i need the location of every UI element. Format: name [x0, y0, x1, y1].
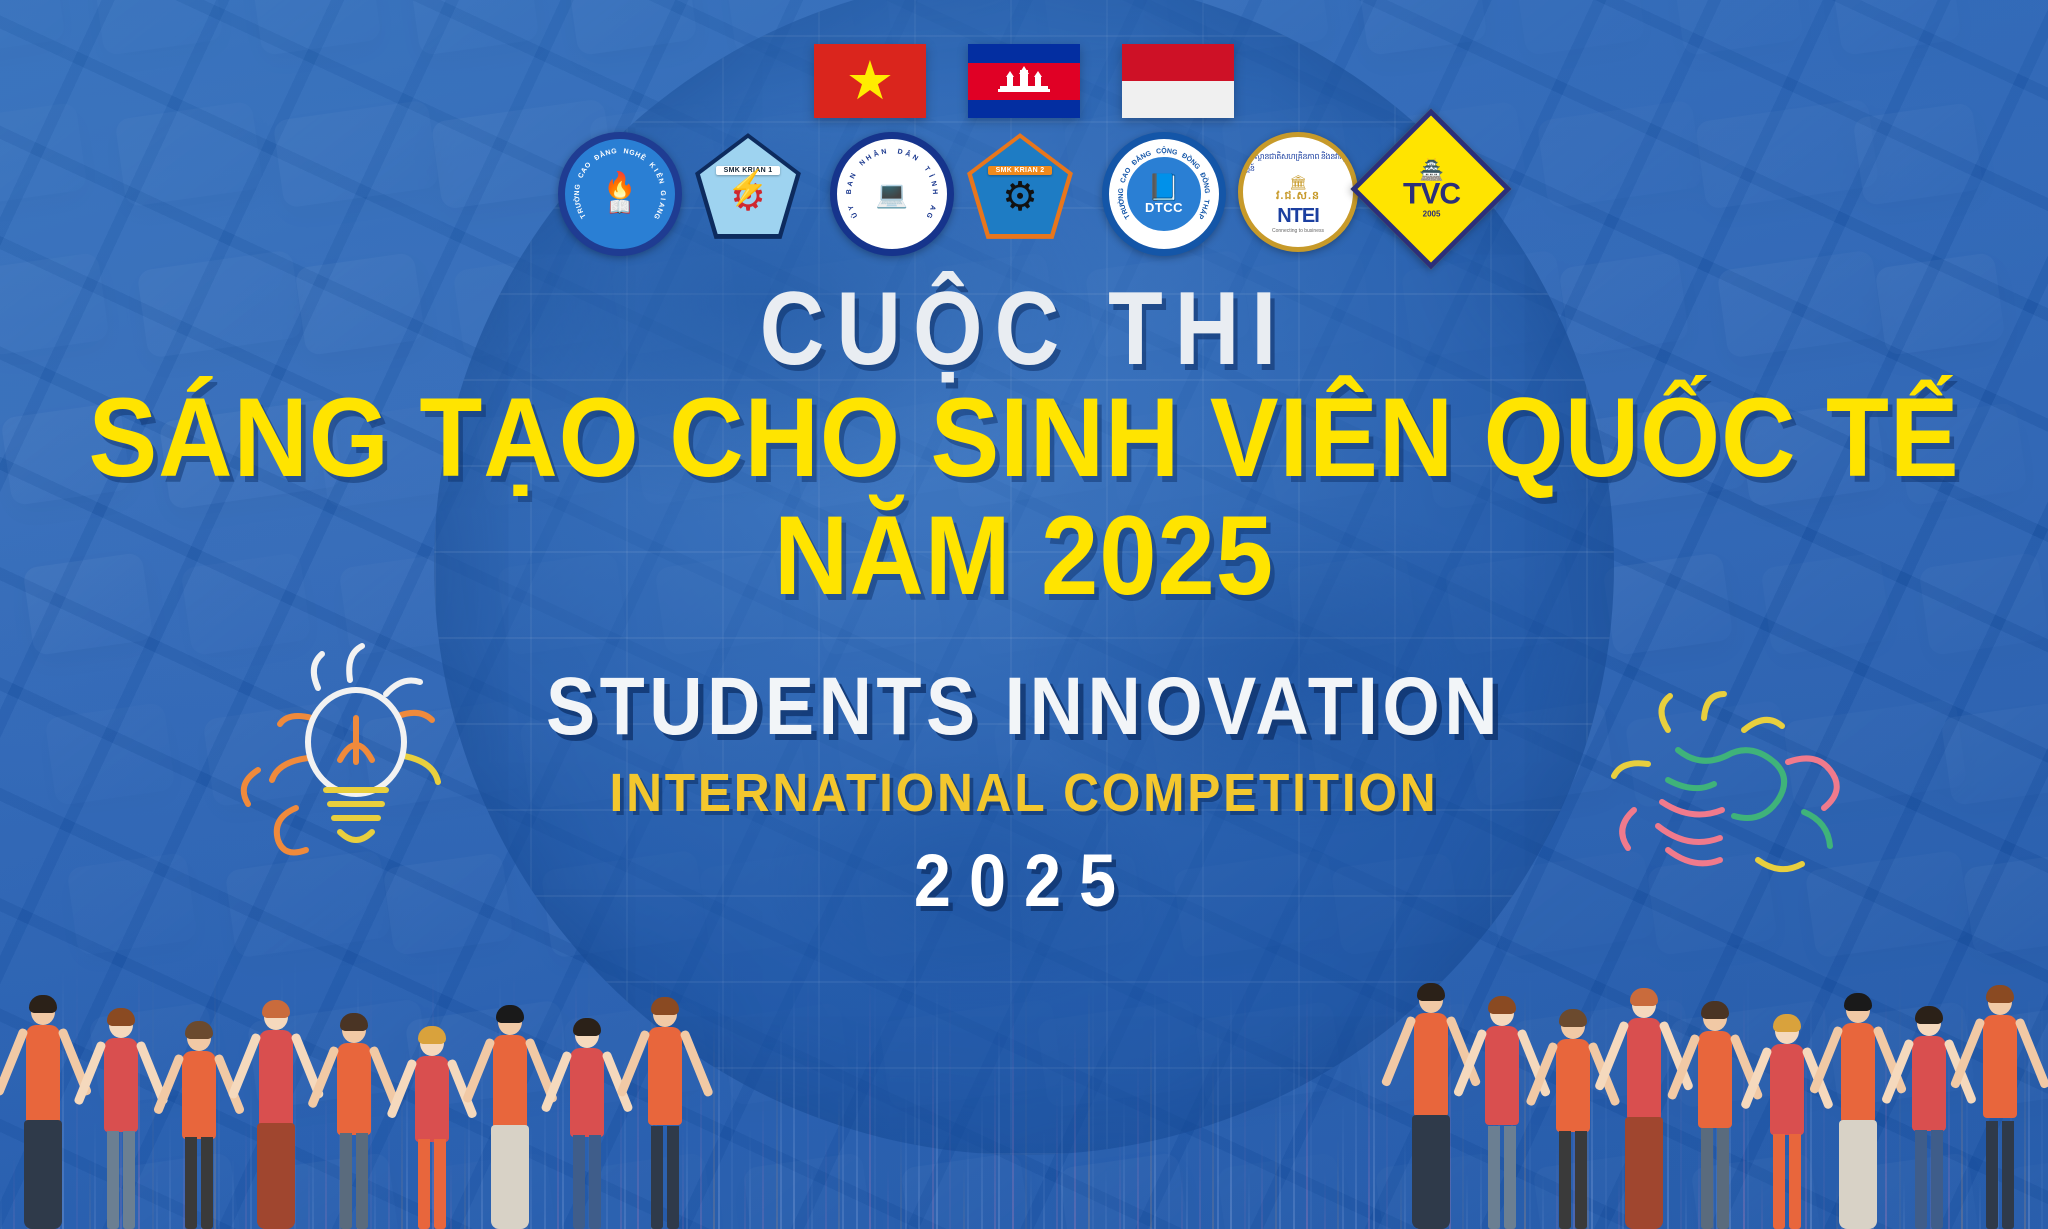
person-skirt: [1412, 1115, 1450, 1229]
person-leg: [185, 1137, 197, 1229]
flag-band-red: [1122, 44, 1234, 81]
title-english-line1: STUDENTS INNOVATION: [102, 666, 1945, 748]
person-figure: [1402, 981, 1460, 1229]
title-english-line2: INTERNATIONAL COMPETITION: [82, 766, 1966, 820]
person-hair: [1915, 1006, 1943, 1024]
person-hair: [185, 1021, 213, 1039]
person-leg: [1488, 1126, 1500, 1229]
logo-abbreviation: NTEI: [1277, 205, 1319, 228]
person-leg: [667, 1126, 679, 1229]
indonesia-flag: [1122, 44, 1234, 118]
cambodia-flag: [968, 44, 1080, 118]
flag-band-middle: [968, 63, 1080, 100]
logo-ribbon-label: SMK KRIAN 2: [988, 166, 1053, 175]
person-leg: [1773, 1134, 1785, 1229]
person-torso: [1556, 1039, 1590, 1132]
person-figure: [1829, 991, 1887, 1229]
person-figure: [1686, 999, 1744, 1229]
person-torso: [1698, 1031, 1732, 1128]
logo-abbreviation: TVC: [1403, 180, 1460, 209]
person-figure: [1544, 1007, 1602, 1229]
person-leg: [201, 1137, 213, 1229]
flag-band-top: [968, 44, 1080, 63]
person-figure: [1900, 1004, 1958, 1229]
person-torso: [259, 1030, 293, 1127]
person-figure: [481, 1003, 539, 1229]
person-hair: [29, 995, 57, 1013]
person-arm: [616, 1029, 651, 1097]
title-vietnamese-line1: SÁNG TẠO CHO SINH VIÊN QUỐC TẾ: [82, 382, 1966, 494]
person-hair: [107, 1008, 135, 1026]
person-torso: [493, 1035, 527, 1130]
logo-emblem: 📘 DTCC: [1125, 155, 1203, 233]
person-skirt: [491, 1125, 529, 1229]
person-torso: [1770, 1044, 1804, 1135]
person-torso: [570, 1048, 604, 1137]
logo-abbreviation: DTCC: [1145, 200, 1183, 215]
partner-logos: TRƯỜNG CAO ĐẲNG NGHỀ KIÊN GIANG 🔥 📖 TRƯỜ…: [0, 132, 2048, 248]
book-icon: 📖: [604, 198, 636, 216]
person-hair: [1844, 993, 1872, 1011]
competition-poster: ★: [0, 0, 2048, 1229]
person-hair: [651, 997, 679, 1015]
person-figure: [1615, 986, 1673, 1229]
person-leg: [107, 1131, 119, 1229]
book-icon: 📘: [1148, 174, 1180, 200]
person-leg: [589, 1135, 601, 1229]
person-skirt: [1625, 1117, 1663, 1229]
person-leg: [1931, 1130, 1943, 1229]
logo-ntei-cambodia: វិទ្យាស្ថានជាតិសហគ្រិនភាព និងនវានុវត្តន៍…: [1238, 132, 1354, 248]
person-leg: [356, 1133, 368, 1229]
logo-tra-vinh-college: 🏯 TVC 2005 TRƯỜNG CAO ĐẲNG TRÀ VINH · TR…: [1374, 132, 1490, 248]
logo-smk-krian-1: SMK KRIAN 1 ⚙ ⚡: [694, 132, 810, 248]
person-skirt: [1839, 1120, 1877, 1229]
person-torso: [648, 1027, 682, 1125]
person-hair: [1630, 988, 1658, 1006]
person-hair: [1417, 983, 1445, 1001]
person-torso: [26, 1025, 60, 1124]
person-figure: [1758, 1012, 1816, 1229]
person-hair: [573, 1018, 601, 1036]
person-hair: [496, 1005, 524, 1023]
person-leg: [1504, 1126, 1516, 1229]
star-icon: ★: [846, 54, 894, 108]
person-arm: [462, 1037, 496, 1103]
person-figure: [636, 995, 694, 1229]
logo-an-giang-vocational-college: ỦY BAN NHÂN DÂN TỈNH AG 💻 ỦY BAN NHÂN DÂ…: [830, 132, 946, 248]
person-leg: [123, 1131, 135, 1229]
person-torso: [1912, 1036, 1946, 1131]
logo-khmer-title: វិទ្យាស្ថានជាតិសហគ្រិនភាព និងនវានុវត្តន៍: [1243, 151, 1353, 175]
person-arm: [228, 1032, 262, 1100]
logo-emblem: 💻: [876, 181, 908, 207]
logo-khmer-abbr: វ.ជ.ស.ន: [1276, 189, 1320, 205]
person-torso: [1485, 1026, 1519, 1125]
person-torso: [1414, 1013, 1448, 1117]
person-leg: [1986, 1121, 1998, 1229]
torch-icon: 🔥: [604, 172, 636, 198]
country-flags: ★: [0, 44, 2048, 118]
person-leg: [651, 1126, 663, 1229]
person-torso: [182, 1051, 216, 1139]
person-hair: [1701, 1001, 1729, 1019]
person-leg: [573, 1135, 585, 1229]
title-vietnamese: SÁNG TẠO CHO SINH VIÊN QUỐC TẾ NĂM 2025: [0, 382, 2048, 612]
gear-icon: ⚙: [1002, 177, 1038, 217]
logo-ring-text: TRƯỜNG CAO ĐẲNG TRÀ VINH · TRA VINH COLL…: [1374, 246, 1375, 247]
title-kicker: CUỘC THI: [143, 276, 1904, 382]
poster-titles: CUỘC THI SÁNG TẠO CHO SINH VIÊN QUỐC TẾ …: [0, 276, 2048, 918]
person-hair: [418, 1026, 446, 1044]
person-torso: [104, 1038, 138, 1132]
person-arm: [680, 1029, 715, 1097]
person-torso: [1627, 1018, 1661, 1120]
person-figure: [14, 993, 72, 1229]
person-skirt: [257, 1123, 295, 1229]
laptop-icon: 💻: [876, 181, 908, 207]
person-figure: [325, 1011, 383, 1229]
person-leg: [340, 1133, 352, 1229]
logo-emblem: 🔥 📖: [604, 172, 636, 216]
person-figure: [247, 998, 305, 1229]
logo-sub-text: Connecting to business: [1272, 228, 1324, 234]
title-english-year: 2025: [102, 844, 1945, 918]
person-leg: [418, 1139, 430, 1229]
person-leg: [1789, 1134, 1801, 1229]
person-figure: [403, 1024, 461, 1229]
person-figure: [170, 1019, 228, 1229]
logo-smk-krian-2: SMK KRIAN 2 ⚙: [966, 132, 1082, 248]
logo-dong-thap-community-college: TRƯỜNG CAO ĐẲNG CỘNG ĐỒNG ĐỒNG THÁP 📘 DT…: [1102, 132, 1218, 248]
person-torso: [337, 1043, 371, 1135]
person-skirt: [24, 1120, 62, 1229]
person-hair: [1773, 1014, 1801, 1032]
people-holding-hands-right: [1398, 969, 2038, 1229]
person-hair: [1986, 985, 2014, 1003]
person-figure: [1971, 983, 2029, 1229]
flag-band-white: [1122, 81, 1234, 118]
person-leg: [1559, 1131, 1571, 1229]
person-torso: [1841, 1023, 1875, 1123]
vietnam-flag: ★: [814, 44, 926, 118]
person-figure: [92, 1006, 150, 1229]
person-leg: [1575, 1131, 1587, 1229]
people-holding-hands-left: [10, 979, 710, 1229]
person-hair: [1488, 996, 1516, 1014]
logo-kien-giang-vocational-college: TRƯỜNG CAO ĐẲNG NGHỀ KIÊN GIANG 🔥 📖 TRƯỜ…: [558, 132, 674, 248]
temple-icon: 🏛: [1289, 175, 1307, 189]
person-hair: [340, 1013, 368, 1031]
lightning-bolt-icon: ⚡: [727, 168, 769, 208]
title-vietnamese-line2: NĂM 2025: [82, 500, 1966, 612]
person-leg: [1717, 1128, 1729, 1229]
person-leg: [2002, 1121, 2014, 1229]
person-figure: [558, 1016, 616, 1229]
person-leg: [1915, 1130, 1927, 1229]
angkor-wat-icon: [996, 66, 1052, 96]
person-hair: [262, 1000, 290, 1018]
person-leg: [434, 1139, 446, 1229]
person-leg: [1701, 1128, 1713, 1229]
person-figure: [1473, 994, 1531, 1229]
flag-band-bottom: [968, 100, 1080, 119]
person-torso: [415, 1056, 449, 1142]
person-torso: [1983, 1015, 2017, 1118]
person-hair: [1559, 1009, 1587, 1027]
